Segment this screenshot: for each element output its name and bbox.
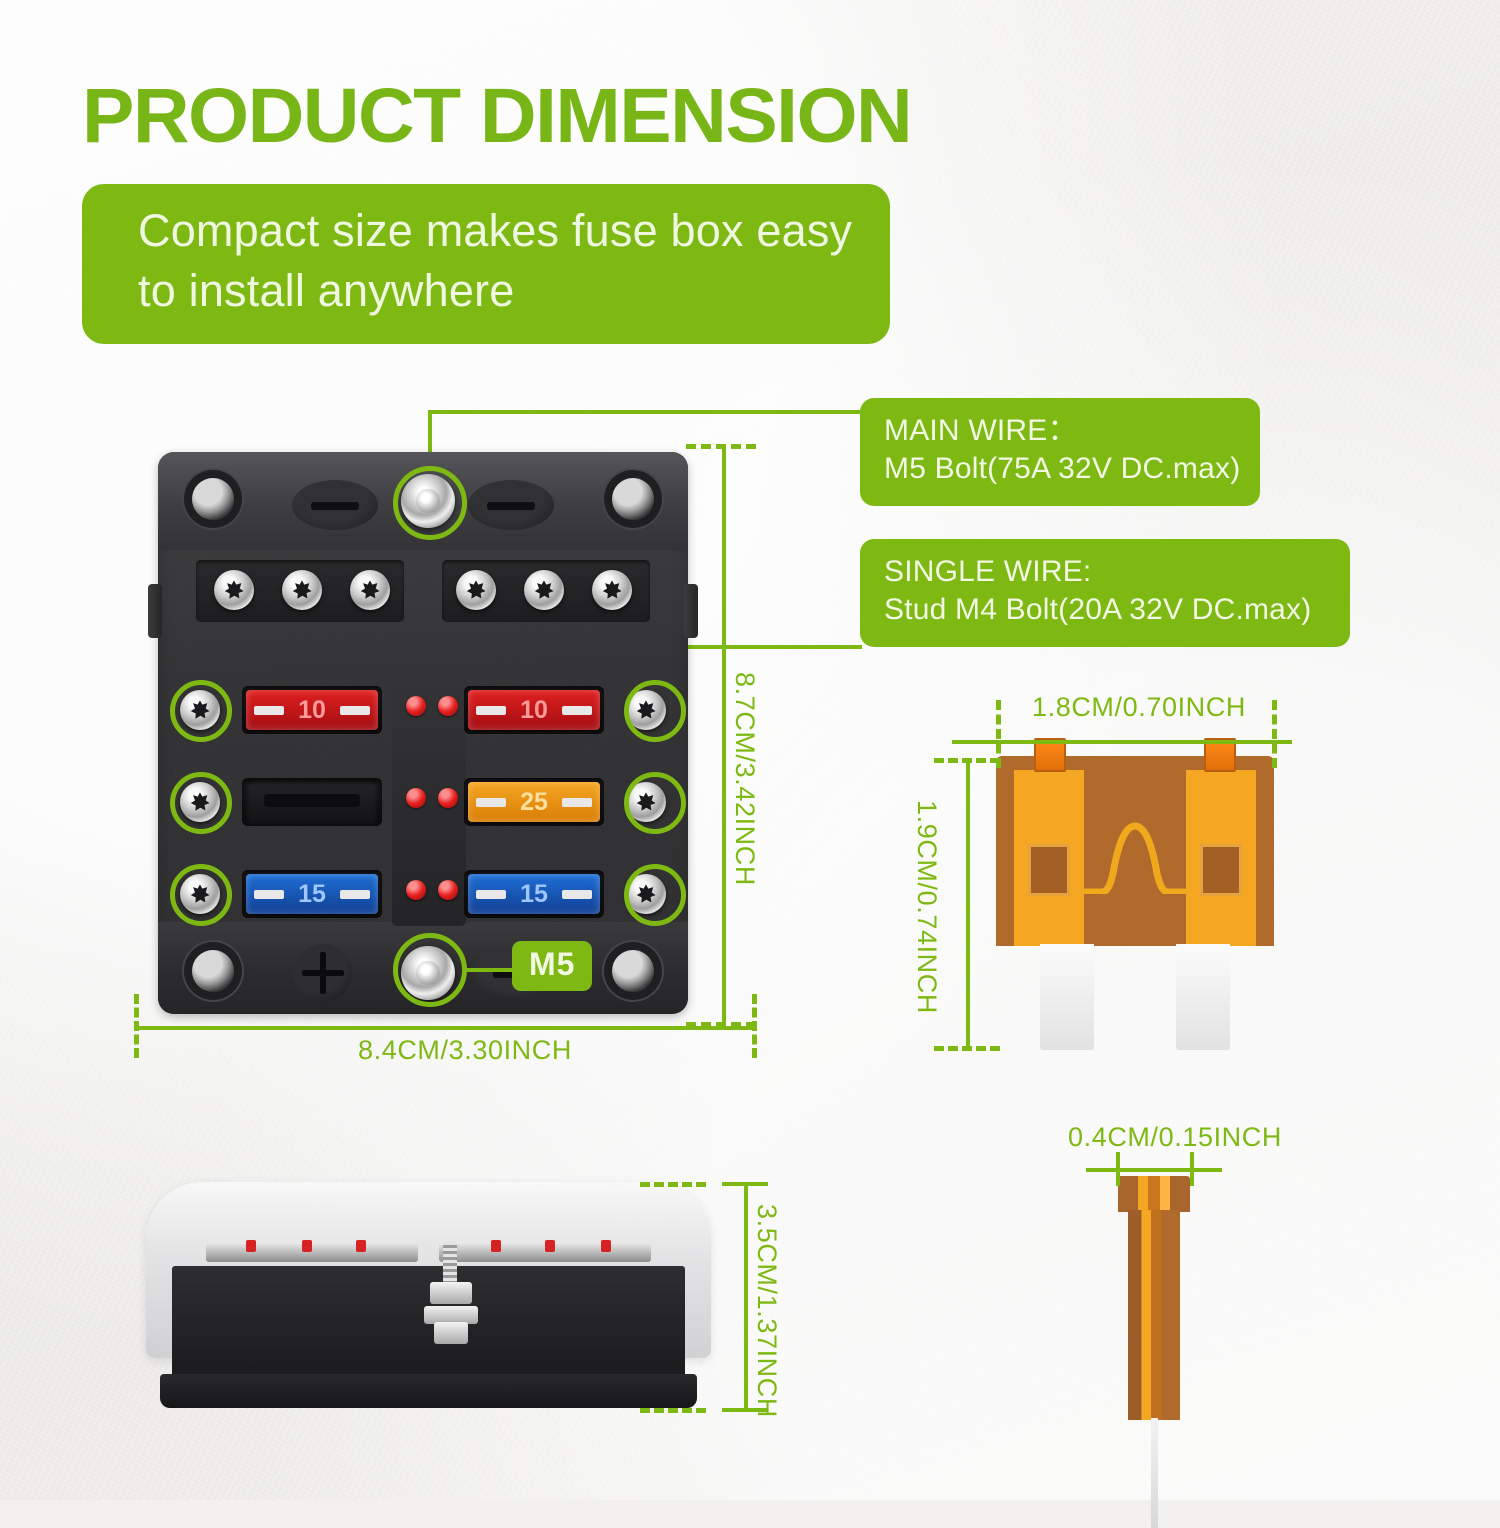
callout-single-wire-title: SINGLE WIRE:	[884, 553, 1328, 591]
blade-fuse-element-icon	[1080, 822, 1190, 894]
dim-ext-fuse-height-top	[934, 758, 1000, 763]
led-indicator	[438, 788, 458, 808]
mount-hole	[192, 478, 234, 520]
side-view-terminal-bar-left	[206, 1242, 418, 1262]
callout-single-wire-detail: Stud M4 Bolt(20A 32V DC.max)	[884, 591, 1328, 629]
led-indicator	[438, 880, 458, 900]
cover-slot-recess	[468, 480, 554, 530]
callout-main-wire: MAIN WIRE： M5 Bolt(75A 32V DC.max)	[860, 398, 1260, 506]
callout-main-wire-title: MAIN WIRE：	[884, 412, 1238, 450]
fuse-row1-right: 10	[468, 690, 600, 730]
dim-ext-fusebox-top	[686, 444, 756, 449]
led-indicator	[438, 696, 458, 716]
dim-ext-depth-top	[640, 1182, 706, 1187]
leader-m5-badge	[462, 968, 516, 972]
blade-fuse-side-view	[1118, 1176, 1190, 1476]
dim-tick-depth-top	[722, 1182, 768, 1186]
dim-tick-thickness-left	[1116, 1152, 1120, 1186]
led-indicator	[406, 880, 426, 900]
blade-fuse-window-left	[1028, 844, 1070, 896]
callout-main-wire-detail: M5 Bolt(75A 32V DC.max)	[884, 450, 1238, 488]
blade-fuse-front-view	[996, 756, 1274, 1056]
dim-label-fuse-thickness: 0.4CM/0.15INCH	[1068, 1122, 1282, 1153]
dim-label-fusebox-height: 8.7CM/3.42INCH	[729, 672, 760, 886]
led-indicator	[406, 696, 426, 716]
page-title: PRODUCT DIMENSION	[82, 72, 911, 161]
dim-rule-fuse-thickness	[1086, 1168, 1222, 1172]
mount-hole	[612, 950, 654, 992]
fuse-rating-label: 15	[520, 880, 548, 909]
callout-single-wire: SINGLE WIRE: Stud M4 Bolt(20A 32V DC.max…	[860, 539, 1350, 647]
blade-fuse-side-pin	[1151, 1418, 1158, 1528]
subtitle-banner: Compact size makes fuse box easy to inst…	[82, 184, 890, 344]
highlight-ring-stud-right-1	[624, 680, 686, 742]
highlight-ring-main-stud-bottom	[393, 933, 467, 1007]
fuse-row1-left: 10	[246, 690, 378, 730]
dim-ext-fusebox-right	[752, 994, 757, 1058]
side-view-led	[601, 1240, 611, 1252]
mount-hole	[612, 478, 654, 520]
blade-fuse-terminal-left	[1040, 944, 1094, 1050]
dim-ext-fuse-height-bottom	[934, 1046, 1000, 1051]
dim-ext-fuse-right	[1272, 700, 1277, 768]
side-view-led	[302, 1240, 312, 1252]
highlight-ring-stud-left-1	[170, 680, 232, 742]
side-view-black-base	[172, 1266, 685, 1384]
blade-fuse-terminal-right	[1176, 944, 1230, 1050]
leader-main-wire-horizontal	[428, 410, 862, 414]
mount-hole	[192, 950, 234, 992]
blade-fuse-side-head	[1118, 1176, 1190, 1212]
dim-label-fusebox-depth: 3.5CM/1.37INCH	[751, 1204, 782, 1418]
badge-m5: M5	[512, 941, 592, 991]
terminal-screw	[524, 570, 564, 610]
dim-label-fusebox-width: 8.4CM/3.30INCH	[358, 1035, 572, 1066]
side-view-led	[545, 1240, 555, 1252]
side-view-foot-plate	[160, 1374, 697, 1408]
terminal-screw	[214, 570, 254, 610]
housing-side-tab	[684, 584, 698, 638]
dim-ext-depth-bottom	[640, 1408, 706, 1413]
fuse-row3-right: 15	[468, 874, 600, 914]
highlight-ring-stud-right-3	[624, 864, 686, 926]
dim-rule-fuse-width	[952, 740, 1292, 744]
side-view-nut-bottom	[434, 1322, 468, 1344]
terminal-screw	[282, 570, 322, 610]
highlight-ring-stud-left-2	[170, 772, 232, 834]
fuse-row3-left: 15	[246, 874, 378, 914]
fuse-rating-label: 25	[520, 788, 548, 817]
subtitle-text-block: Compact size makes fuse box easy to inst…	[138, 201, 890, 321]
ground-screw-icon	[294, 944, 352, 1002]
terminal-screw	[350, 570, 390, 610]
dim-label-fuse-height: 1.9CM/0.74INCH	[911, 800, 942, 1014]
dim-rule-fusebox-height	[722, 444, 726, 1024]
fuse-row2-right: 25	[468, 782, 600, 822]
fuse-rating-label: 10	[298, 696, 326, 725]
highlight-ring-stud-right-2	[624, 772, 686, 834]
side-view-nut-upper	[430, 1282, 472, 1304]
fuse-box-side-view	[146, 1182, 711, 1418]
fuse-rating-label: 15	[298, 880, 326, 909]
highlight-ring-stud-left-3	[170, 864, 232, 926]
side-view-led	[491, 1240, 501, 1252]
side-view-led	[246, 1240, 256, 1252]
terminal-screw	[592, 570, 632, 610]
fuse-rating-label: 10	[520, 696, 548, 725]
blade-fuse-side-shaft	[1128, 1210, 1180, 1420]
dim-rule-fusebox-width	[134, 1026, 754, 1030]
dim-rule-fusebox-depth	[744, 1182, 748, 1412]
blade-fuse-window-right	[1200, 844, 1242, 896]
cover-slot-recess	[292, 480, 378, 530]
highlight-ring-main-stud-top	[393, 466, 467, 540]
terminal-screw	[456, 570, 496, 610]
dim-label-fuse-width: 1.8CM/0.70INCH	[1032, 692, 1246, 723]
led-indicator	[406, 788, 426, 808]
subtitle-line-1: Compact size makes fuse box	[138, 205, 744, 256]
dim-rule-fuse-height	[966, 758, 970, 1048]
dim-tick-thickness-right	[1190, 1152, 1194, 1186]
side-view-led	[356, 1240, 366, 1252]
fuse-puller-tool	[246, 780, 378, 824]
housing-side-tab	[148, 584, 162, 638]
dim-ext-fusebox-left	[134, 994, 139, 1058]
